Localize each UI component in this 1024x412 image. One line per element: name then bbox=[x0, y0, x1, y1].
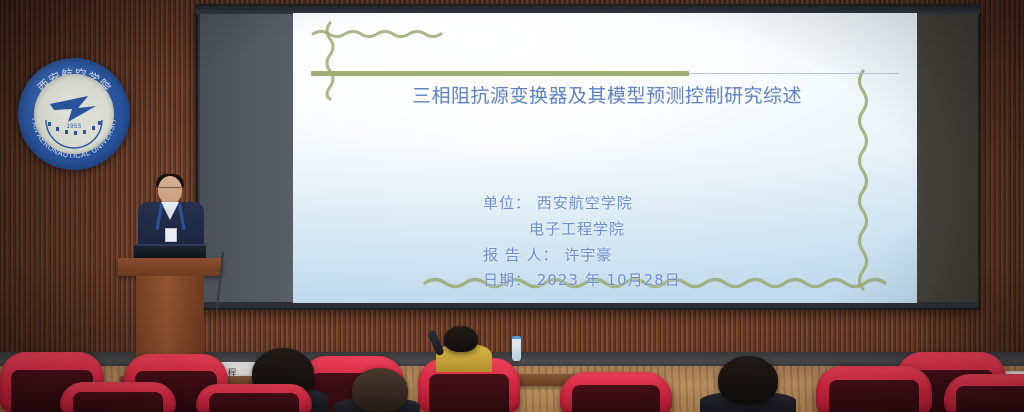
rule-thin-segment bbox=[689, 73, 899, 74]
auditorium-chair bbox=[816, 366, 932, 412]
podium-body bbox=[136, 276, 204, 360]
chair-cushion bbox=[73, 392, 163, 412]
chair-cushion bbox=[829, 380, 919, 412]
slide-affiliation-line: 单位： 西安航空学院 bbox=[483, 191, 903, 217]
title-divider-rule bbox=[311, 70, 899, 78]
auditorium-chair bbox=[560, 372, 672, 412]
emblem-center-disc: 1955 bbox=[34, 74, 114, 154]
lanyard-badge bbox=[165, 228, 177, 242]
rule-thick-segment bbox=[311, 71, 689, 76]
conference-room-photo: 西安航空学院 XI'AN AERONAUTICAL UNIVERSITY bbox=[0, 0, 1024, 412]
slide-presenter-line: 报 告 人： 许宇豪 bbox=[483, 243, 903, 269]
podium-top-surface bbox=[118, 258, 222, 276]
audience-head bbox=[718, 356, 778, 404]
chair-cushion bbox=[209, 393, 299, 412]
emblem-year: 1955 bbox=[34, 124, 114, 130]
auditorium-chair bbox=[60, 382, 176, 412]
screen-unlit-right bbox=[916, 14, 978, 302]
chair-cushion bbox=[956, 386, 1024, 412]
slide-department-line: 电子工程学院 bbox=[483, 217, 903, 243]
auditorium-chair bbox=[196, 384, 312, 412]
university-emblem: 西安航空学院 XI'AN AERONAUTICAL UNIVERSITY bbox=[18, 58, 130, 170]
projected-slide: 三相阻抗源变换器及其模型预测控制研究综述 单位： 西安航空学院 电子工程学院 报… bbox=[293, 13, 917, 303]
audience-head bbox=[444, 326, 478, 352]
slide-title: 三相阻抗源变换器及其模型预测控制研究综述 bbox=[333, 85, 881, 108]
slide-info-block: 单位： 西安航空学院 电子工程学院 报 告 人： 许宇豪 日期： 2023 年 … bbox=[483, 191, 903, 294]
podium bbox=[118, 258, 222, 358]
chair-cushion bbox=[572, 385, 659, 412]
auditorium-chair bbox=[944, 374, 1024, 412]
audience-head bbox=[352, 368, 408, 412]
airplane-icon bbox=[48, 94, 100, 124]
chair-cushion bbox=[429, 374, 509, 412]
slide-date-line: 日期： 2023 年 10月28日 bbox=[483, 268, 903, 294]
glasses-icon bbox=[159, 187, 181, 192]
